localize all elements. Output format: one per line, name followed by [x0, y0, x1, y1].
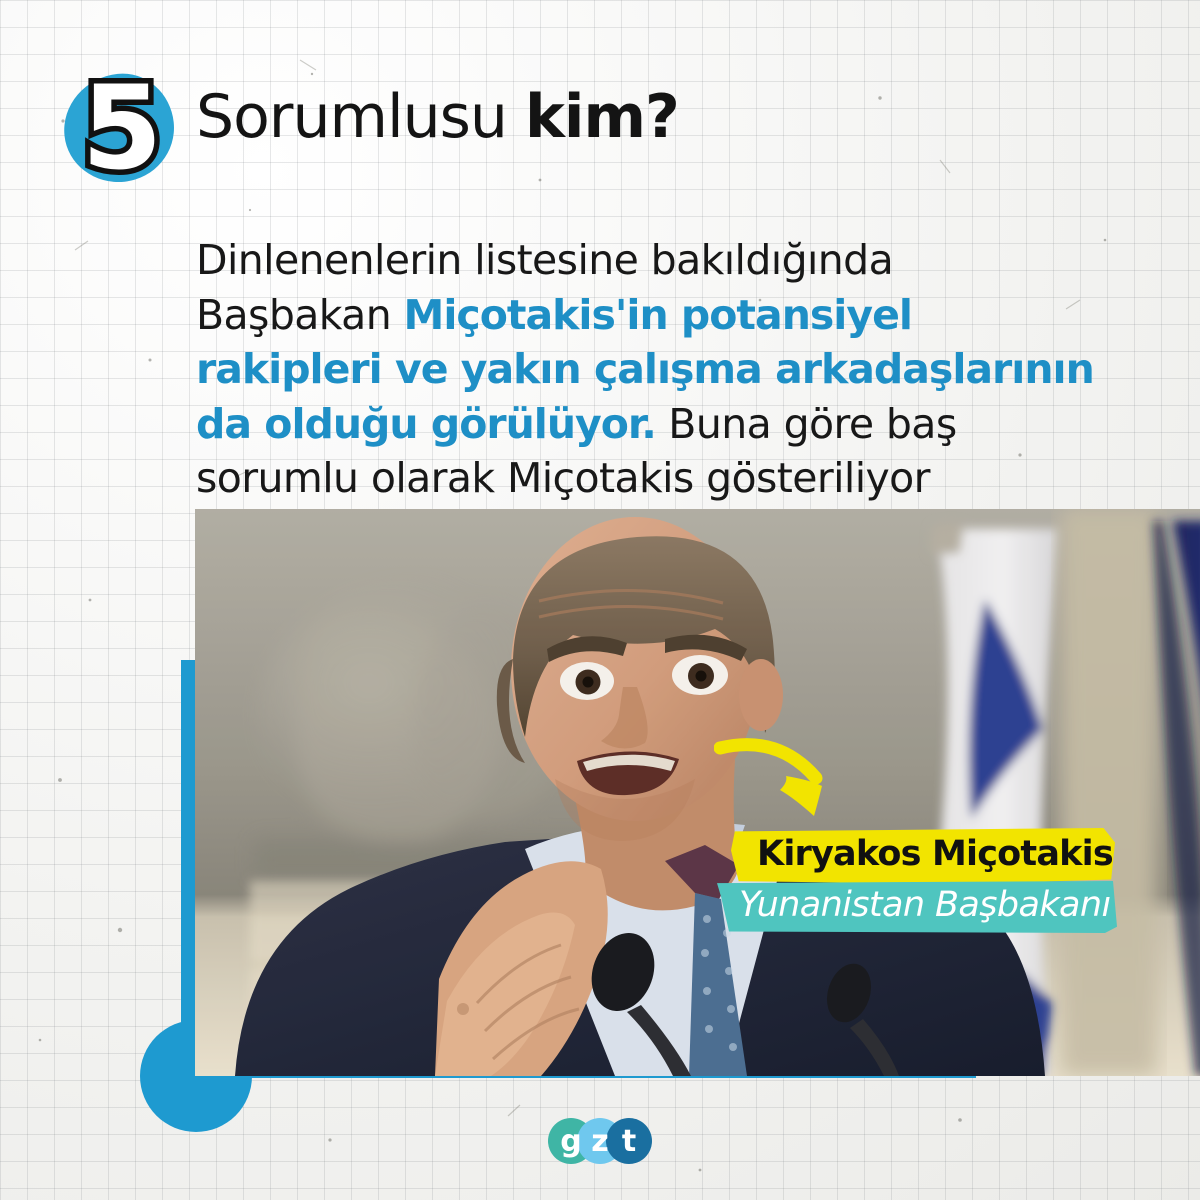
infographic-card: 5 Sorumlusu kim? Dinlenenlerin listesine… — [0, 0, 1200, 1200]
photo-image — [195, 509, 1200, 1076]
yellow-arrow-icon — [714, 736, 864, 826]
caption-name: Kiryakos Miçotakis — [757, 834, 1113, 874]
photo-block: Kiryakos Miçotakis Yunanistan Başbakanı — [0, 0, 1200, 1200]
photo-frame-left-stroke — [181, 660, 196, 1078]
caption-name-box: Kiryakos Miçotakis — [731, 828, 1115, 884]
caption-title: Yunanistan Başbakanı — [739, 885, 1111, 925]
gzt-logo[interactable]: g z t — [548, 1118, 652, 1164]
logo-letter-t: t — [606, 1118, 652, 1164]
caption-title-box: Yunanistan Başbakanı — [717, 881, 1117, 933]
